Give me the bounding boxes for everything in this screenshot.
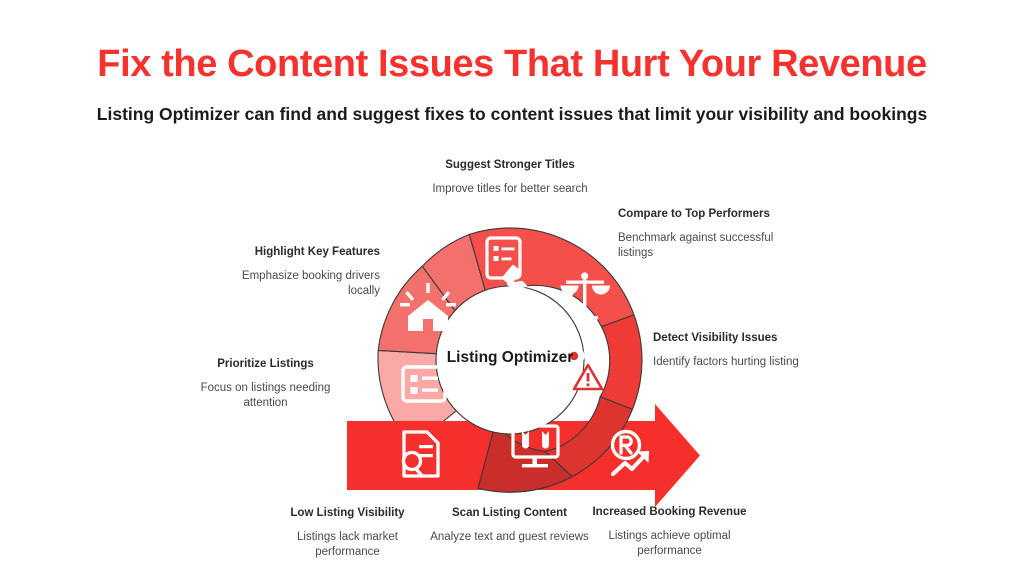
- callout-body: Focus on listings needing attention: [193, 381, 338, 412]
- callout-body: Improve titles for better search: [395, 182, 625, 197]
- center-label: Listing Optimizer: [430, 349, 590, 367]
- callout-heading: Scan Listing Content: [428, 506, 591, 521]
- callout-heading: Highlight Key Features: [213, 245, 380, 260]
- callout-heading: Compare to Top Performers: [618, 207, 778, 222]
- callout-increased-booking-revenue[interactable]: Increased Booking Revenue Listings achie…: [592, 505, 747, 559]
- callout-prioritize-listings[interactable]: Prioritize Listings Focus on listings ne…: [193, 357, 338, 411]
- callout-body: Emphasize booking drivers locally: [213, 269, 380, 300]
- callout-body: Identify factors hurting listing: [653, 355, 828, 370]
- callout-low-listing-visibility[interactable]: Low Listing Visibility Listings lack mar…: [265, 506, 430, 560]
- cycle-diagram: Listing Optimizer Suggest Stronger Title…: [0, 0, 1024, 576]
- callout-scan-listing-content[interactable]: Scan Listing Content Analyze text and gu…: [428, 506, 591, 545]
- callout-detect-visibility-issues[interactable]: Detect Visibility Issues Identify factor…: [653, 331, 828, 370]
- callout-body: Listings lack market performance: [265, 530, 430, 561]
- callout-body: Analyze text and guest reviews: [428, 530, 591, 545]
- callout-heading: Detect Visibility Issues: [653, 331, 828, 346]
- segment-compare-to-top-performers[interactable]: [600, 315, 642, 410]
- callout-heading: Low Listing Visibility: [265, 506, 430, 521]
- callout-heading: Prioritize Listings: [193, 357, 338, 372]
- infographic-canvas: Fix the Content Issues That Hurt Your Re…: [0, 0, 1024, 576]
- callout-heading: Increased Booking Revenue: [592, 505, 747, 520]
- callout-heading: Suggest Stronger Titles: [395, 158, 625, 173]
- callout-body: Benchmark against successful listings: [618, 231, 778, 262]
- diagram-graphics: [0, 0, 1024, 576]
- callout-body: Listings achieve optimal performance: [592, 529, 747, 560]
- callout-suggest-stronger-titles[interactable]: Suggest Stronger Titles Improve titles f…: [395, 158, 625, 197]
- callout-compare-to-top-performers[interactable]: Compare to Top Performers Benchmark agai…: [618, 207, 778, 261]
- callout-highlight-key-features[interactable]: Highlight Key Features Emphasize booking…: [213, 245, 380, 299]
